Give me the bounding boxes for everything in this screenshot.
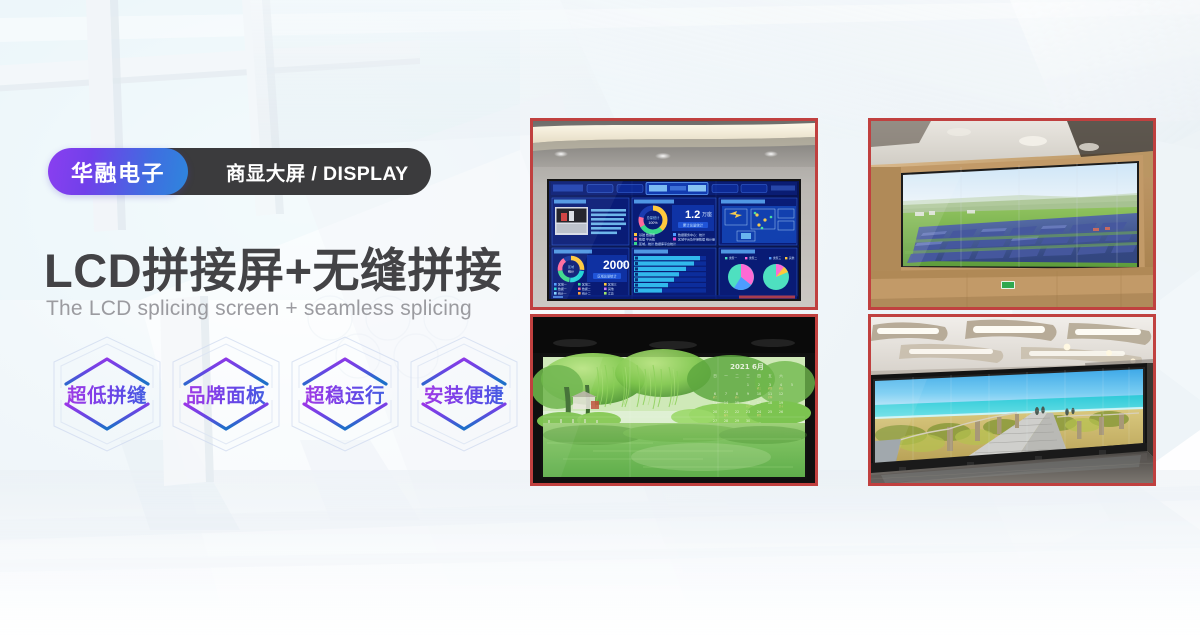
svg-text:其他: 其他 [789,256,795,260]
svg-text:总量统计: 总量统计 [647,215,661,220]
photo-content: 2021 6月 日一二 三四五六 12345 6789 101112 13141… [533,317,815,483]
svg-text:区域、统计 数据库平台统计: 区域、统计 数据库平台统计 [639,241,676,246]
svg-text:万座: 万座 [702,211,712,218]
page-subtitle: The LCD splicing screen + seamless splic… [46,297,472,321]
svg-text:二: 二 [735,374,739,378]
svg-text:30: 30 [746,419,750,423]
svg-text:1.2: 1.2 [685,209,700,221]
svg-text:区域平台及环保数据 统计量: 区域平台及环保数据 统计量 [678,236,715,241]
svg-text:15: 15 [735,401,739,405]
svg-text:7: 7 [725,392,727,396]
svg-text:18: 18 [768,401,772,405]
feature-hexagon-2: 超稳运行 [284,334,406,454]
svg-text:26: 26 [779,410,783,414]
feature-label: 超低拼缝 [46,379,168,408]
svg-text:类型一: 类型一 [729,256,737,260]
svg-text:1: 1 [747,383,749,387]
svg-text:27: 27 [713,419,717,423]
svg-text:座: 座 [621,261,626,268]
svg-text:23: 23 [746,410,750,414]
product-photo-dashboard-video-wall: 总量统计 100% 1.2 万座 累计总量统计 基础 数据量 数据 平台数 区域… [530,118,818,310]
svg-text:17: 17 [757,401,761,405]
svg-text:22: 22 [735,410,739,414]
svg-text:三: 三 [746,374,750,378]
svg-text:12: 12 [779,392,783,396]
photo-content [871,121,1153,307]
product-photo-beach-boardwalk-wall [868,314,1156,486]
svg-text:5: 5 [791,383,793,387]
brand-pill: 华融电子 [48,148,188,195]
brand-badge-row: 商显大屏 / DISPLAY 华融电子 [48,148,188,195]
feature-hexagon-0: 超低拼缝 [46,334,168,454]
svg-text:统计二: 统计二 [582,290,591,295]
photo-content: 总量统计 100% 1.2 万座 累计总量统计 基础 数据量 数据 平台数 区域… [533,121,815,307]
svg-text:类型二: 类型二 [749,256,757,260]
svg-text:25: 25 [768,410,772,414]
category-label: 商显大屏 / DISPLAY [226,157,409,186]
svg-text:数据二: 数据二 [582,286,591,291]
feature-label: 安装便捷 [403,379,525,408]
svg-text:数据服务中心：统计: 数据服务中心：统计 [678,232,705,237]
svg-text:汇总: 汇总 [608,290,614,295]
brand-name-label: 华融电子 [71,156,165,188]
product-photo-willow-lake-wall: 2021 6月 日一二 三四五六 12345 6789 101112 13141… [530,314,818,486]
svg-text:10: 10 [757,392,761,396]
page-title: LCD拼接屏+无缝拼接 [44,232,503,301]
banner-stage: 商显大屏 / DISPLAY 华融电子 LCD拼接屏+无缝拼接 The LCD … [0,0,1200,640]
svg-text:其他: 其他 [608,286,614,291]
svg-text:20: 20 [713,410,717,414]
svg-text:29: 29 [735,419,739,423]
svg-text:四: 四 [757,374,761,378]
feature-hexagon-1: 品牌面板 [165,334,287,454]
svg-text:28: 28 [724,419,728,423]
svg-text:2021 6月: 2021 6月 [730,363,764,371]
feature-label: 品牌面板 [165,379,287,408]
svg-text:六: 六 [779,373,783,378]
svg-text:区域总量统计: 区域总量统计 [597,274,617,279]
svg-text:日: 日 [713,374,717,378]
svg-text:基础 数据量: 基础 数据量 [639,232,655,237]
feature-label: 超稳运行 [284,379,406,408]
svg-text:区域三: 区域三 [608,281,617,286]
svg-text:14: 14 [724,401,728,405]
svg-text:累计总量统计: 累计总量统计 [683,223,704,228]
svg-text:数据 平台数: 数据 平台数 [639,236,655,241]
svg-text:区域二: 区域二 [582,281,591,286]
svg-text:13: 13 [713,401,717,405]
photo-content [871,317,1153,483]
svg-text:类型三: 类型三 [773,256,781,260]
feature-hexagon-3: 安装便捷 [403,334,525,454]
svg-text:9: 9 [747,392,749,396]
svg-text:一: 一 [724,374,728,378]
feature-hexagon-list: 超低拼缝 品牌面板 [46,334,526,454]
svg-text:100%: 100% [648,221,658,225]
svg-text:初四: 初四 [768,386,772,390]
product-photo-solar-farm-wall [868,118,1156,310]
svg-text:五: 五 [768,374,772,378]
